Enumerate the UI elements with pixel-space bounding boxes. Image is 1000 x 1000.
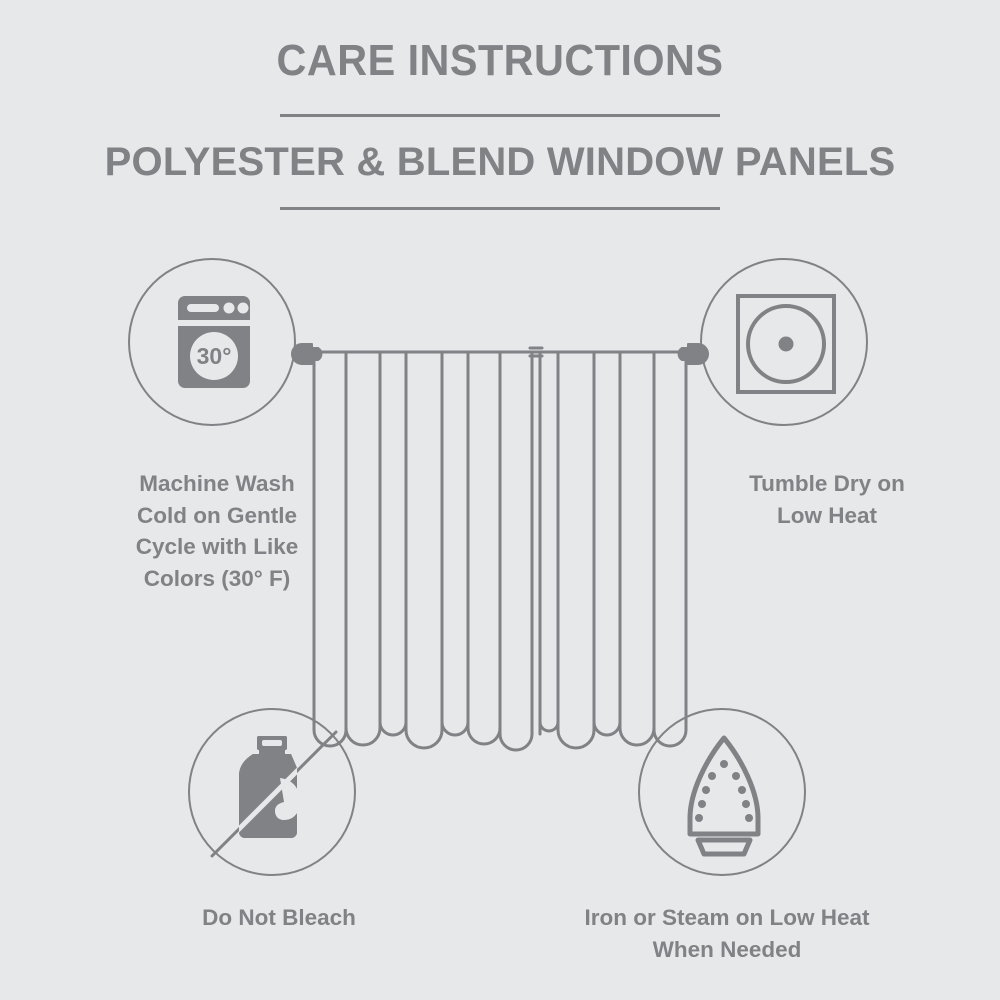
divider-bottom [280,207,720,210]
pleat [380,354,406,735]
caption-iron-low-heat: Iron or Steam on Low Heat When Needed [562,902,892,965]
pleat [540,354,558,731]
care-instructions-infographic: CARE INSTRUCTIONS POLYESTER & BLEND WIND… [0,0,1000,1000]
tumble-dry-low-icon [700,258,872,430]
washing-machine-icon: 30° [128,258,300,430]
do-not-bleach-icon [188,708,360,880]
pleat [442,354,468,735]
badge-machine-wash: 30° [128,258,300,430]
wash-temperature-label: 30° [197,343,232,369]
pleat [406,354,442,748]
caption-machine-wash: Machine Wash Cold on Gentle Cycle with L… [62,468,372,594]
badge-do-not-bleach [188,708,360,880]
page-subtitle: POLYESTER & BLEND WINDOW PANELS [0,117,1000,185]
caption-tumble-dry: Tumble Dry on Low Heat [672,468,982,531]
iron-low-heat-icon [638,708,810,880]
badge-iron-low-heat [638,708,810,880]
page-title: CARE INSTRUCTIONS [30,0,970,84]
header: CARE INSTRUCTIONS POLYESTER & BLEND WIND… [0,0,1000,210]
pleat [500,354,532,750]
pleat [594,354,620,735]
badge-tumble-dry [700,258,872,430]
panel-right-outline [654,352,686,746]
pleat [558,354,594,748]
caption-do-not-bleach: Do Not Bleach [124,902,434,934]
pleat [620,354,654,745]
pleat [468,354,500,744]
